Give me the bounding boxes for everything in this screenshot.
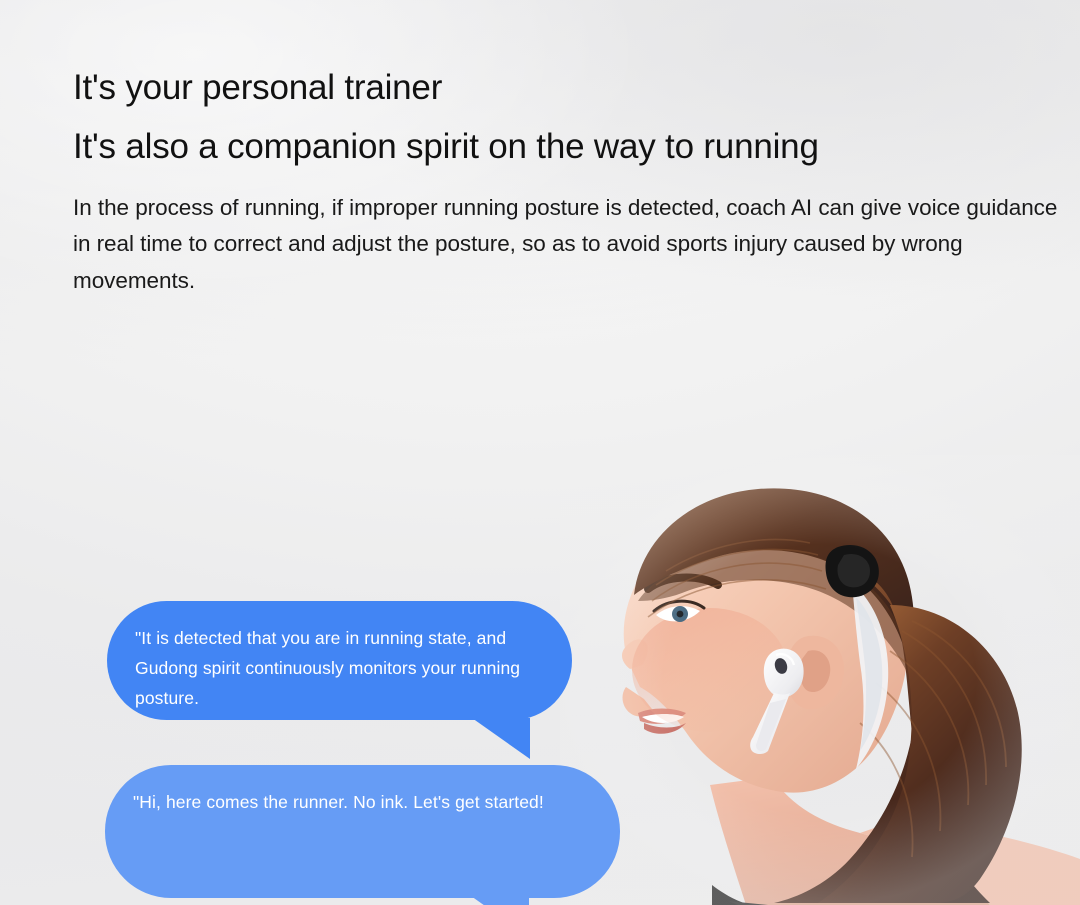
hero-body-paragraph: In the process of running, if improper r… (73, 190, 1058, 299)
hero-copy-block: It's your personal trainer It's also a c… (73, 70, 1058, 299)
speech-bubble-detection: "It is detected that you are in running … (107, 601, 572, 720)
speech-bubble-tail (472, 718, 530, 759)
speech-bubble-tail (471, 896, 529, 905)
runner-photo (560, 455, 1080, 905)
headline-line-1: It's your personal trainer (73, 70, 1058, 105)
headline-line-2: It's also a companion spirit on the way … (73, 129, 1058, 164)
speech-bubble-greeting-text: "Hi, here comes the runner. No ink. Let'… (133, 787, 586, 817)
speech-bubble-detection-text: "It is detected that you are in running … (135, 623, 538, 713)
speech-bubble-greeting: "Hi, here comes the runner. No ink. Let'… (105, 765, 620, 898)
marketing-page: It's your personal trainer It's also a c… (0, 0, 1080, 905)
